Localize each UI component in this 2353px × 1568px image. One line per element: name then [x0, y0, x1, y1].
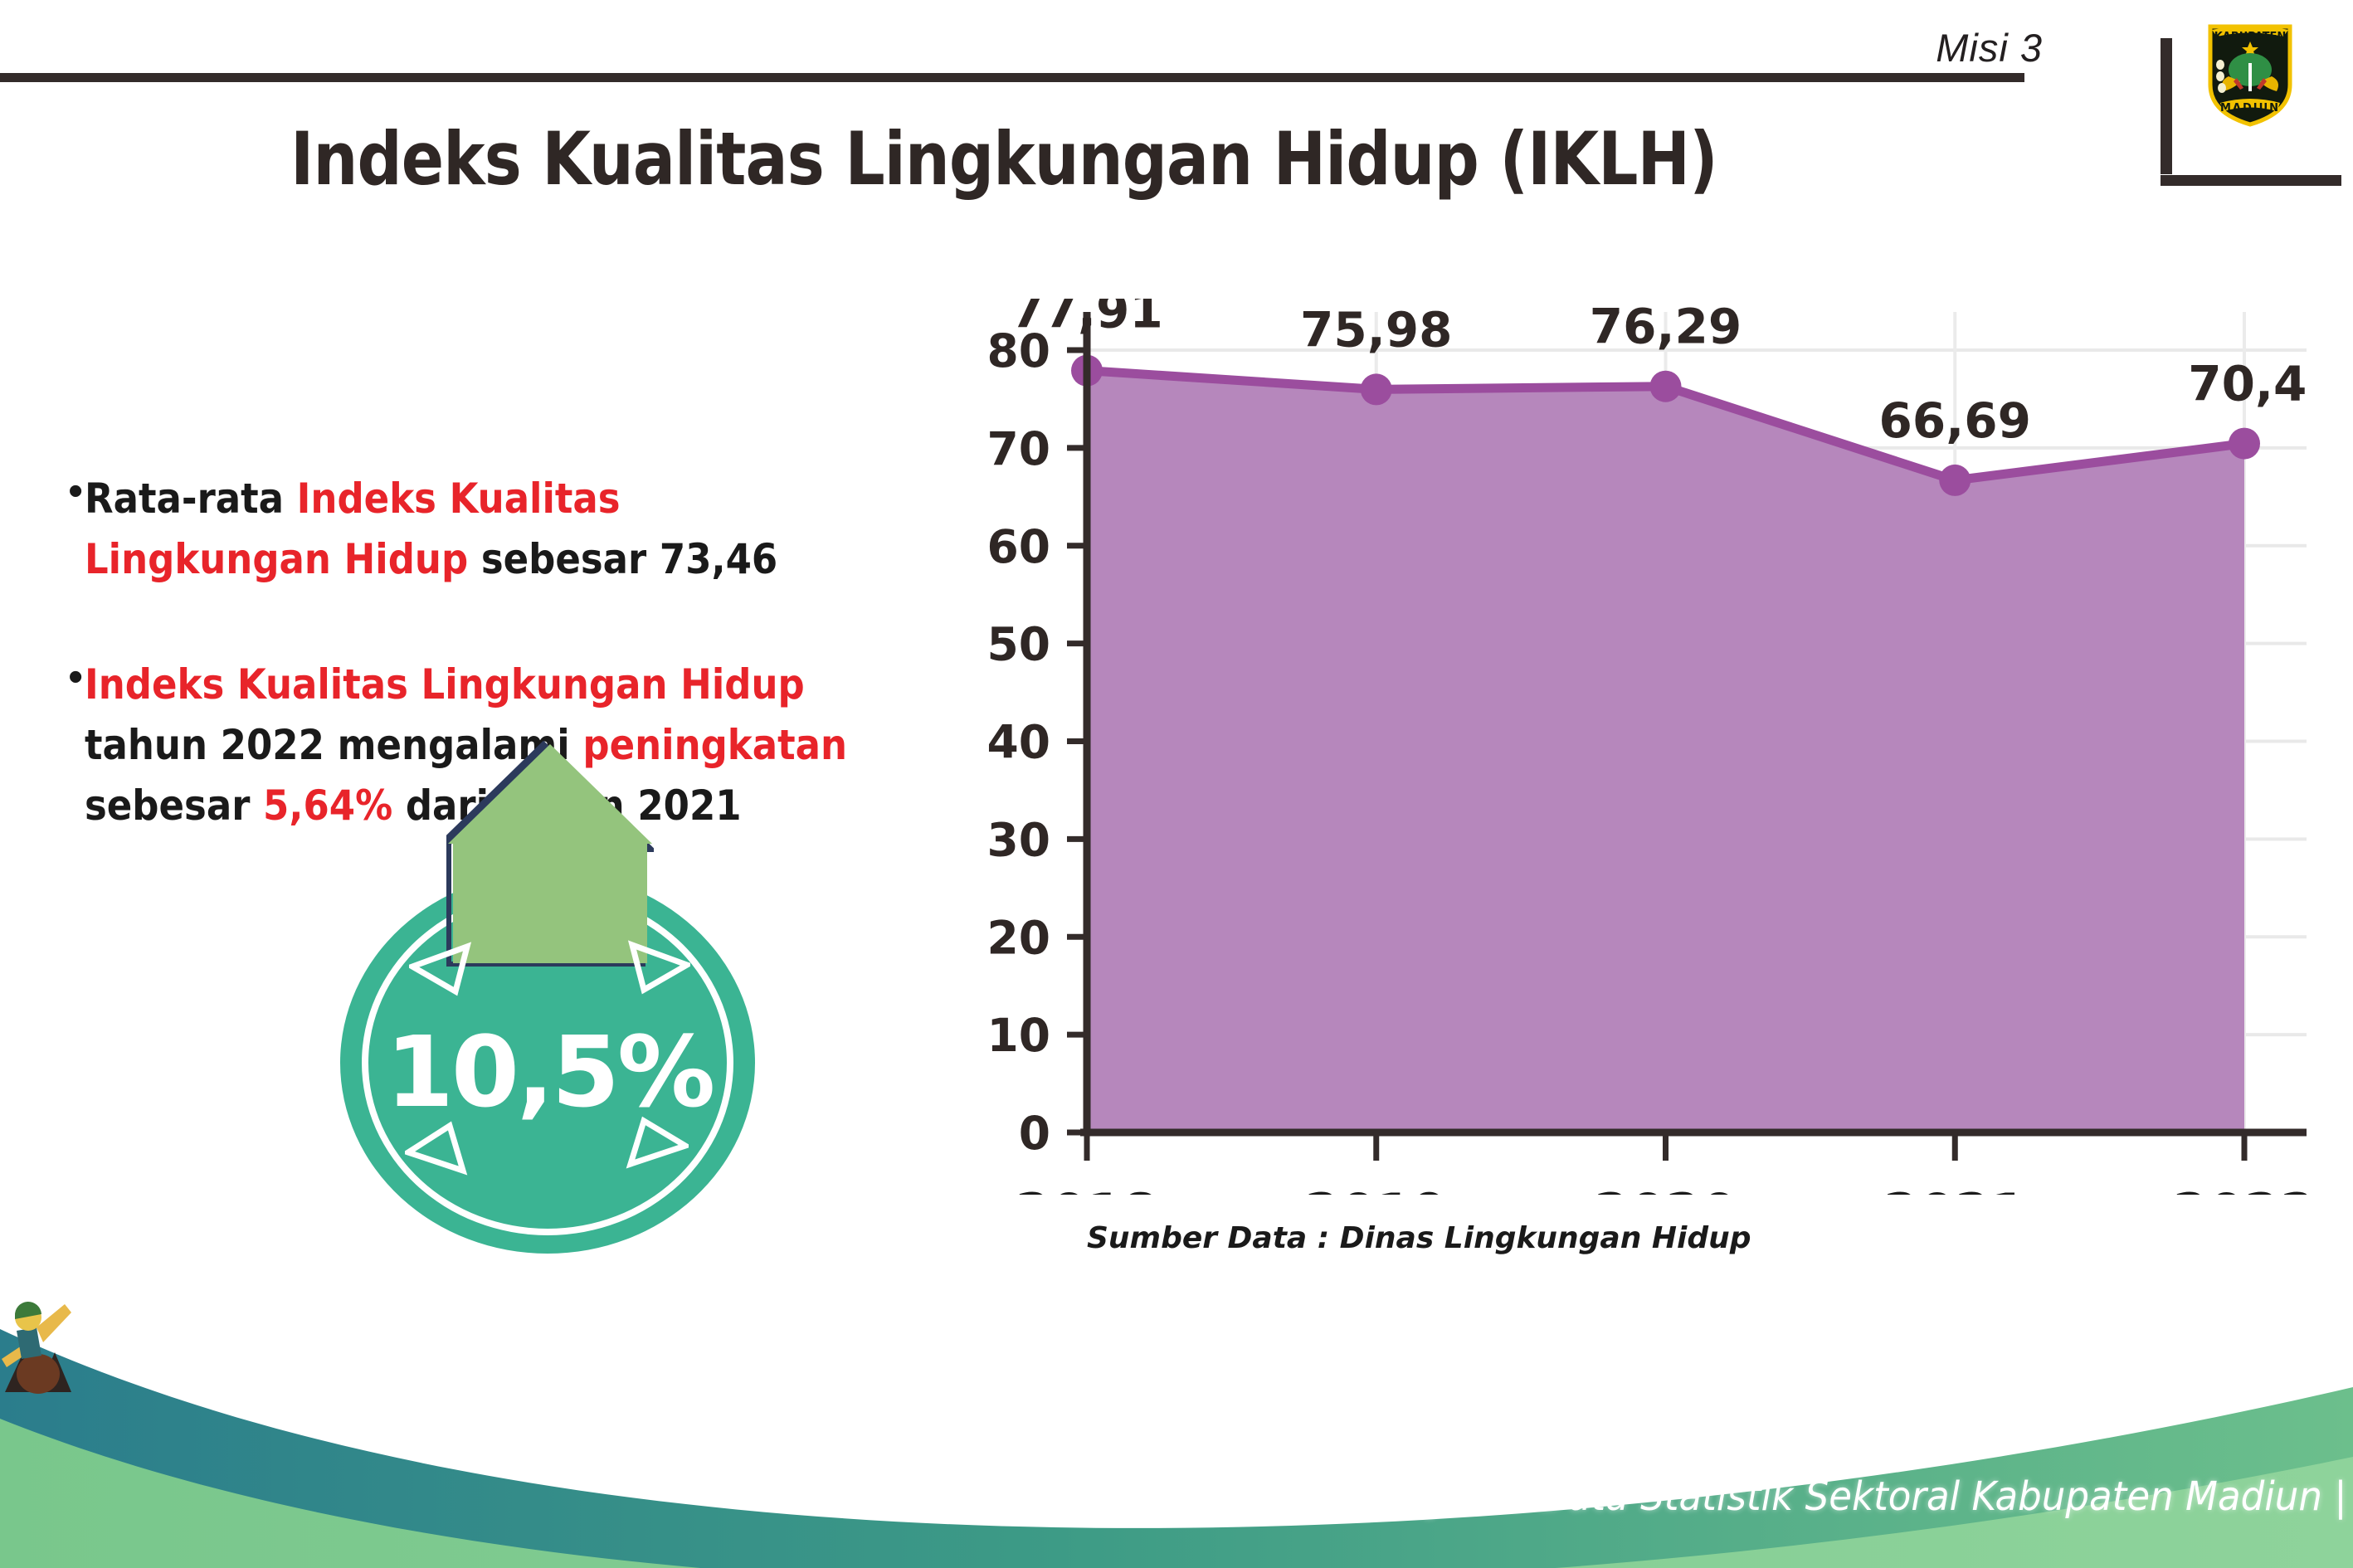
chart-canvas: 01020304050607080 20182019202020212022 7…	[962, 299, 2307, 1195]
svg-text:MADIUN: MADIUN	[2220, 102, 2280, 114]
chart-marker	[1650, 371, 1682, 402]
up-arrow-icon	[446, 741, 654, 967]
badge-tick-top-right-icon	[622, 940, 690, 1000]
chart-source-note: Sumber Data : Dinas Lingkungan Hidup	[1087, 1221, 1751, 1255]
data-value-label: 77,91	[1011, 299, 1162, 339]
bullet-item-0: • Rata-rata Indeks Kualitas Lingkungan H…	[68, 469, 964, 590]
data-value-label: 76,29	[1590, 299, 1742, 355]
chart-x-ticks	[1087, 1132, 2244, 1161]
x-tick-label: 2018	[1016, 1182, 1159, 1195]
y-tick-label: 70	[987, 422, 1050, 475]
footer-caption: Media Infografis Data Statistik Sektoral…	[1226, 1473, 2347, 1520]
bullet-dot-icon: •	[68, 467, 83, 515]
kabupaten-madiun-logo-icon: KABUPATEN MADIUN	[2200, 12, 2300, 128]
y-tick-label: 0	[1019, 1107, 1050, 1160]
chart-marker	[1939, 465, 1971, 496]
chart-y-tick-labels: 01020304050607080	[987, 324, 1050, 1160]
data-value-label: 66,69	[1879, 392, 2031, 449]
misi-label: Misi 3	[1936, 25, 2043, 71]
chart-x-tick-labels: 20182019202020212022	[1016, 1182, 2307, 1195]
footer-banner: Media Infografis Data Statistik Sektoral…	[0, 1294, 2353, 1568]
y-tick-label: 10	[987, 1009, 1050, 1062]
badge-percent-value: 10,5%	[330, 1015, 768, 1129]
iklh-area-chart: 01020304050607080 20182019202020212022 7…	[962, 299, 2307, 1195]
chart-marker	[1361, 373, 1392, 405]
data-value-label: 75,98	[1300, 301, 1452, 358]
text-run: sebesar 73,46	[468, 535, 777, 583]
text-run: sebesar	[85, 782, 263, 830]
page-title: Indeks Kualitas Lingkungan Hidup (IKLH)	[140, 116, 1867, 202]
y-tick-label: 20	[987, 911, 1050, 964]
y-tick-label: 60	[987, 520, 1050, 573]
chart-marker	[2229, 428, 2260, 460]
svg-text:KABUPATEN: KABUPATEN	[2214, 31, 2287, 43]
footer-waves	[0, 1294, 2353, 1568]
badge-tick-top-left-icon	[409, 942, 477, 1001]
bullet-text-0: Rata-rata Indeks Kualitas Lingkungan Hid…	[85, 469, 876, 590]
y-tick-label: 30	[987, 813, 1050, 866]
x-tick-label: 2022	[2173, 1182, 2307, 1195]
media-infografis-figure-icon	[0, 1294, 76, 1395]
x-tick-label: 2019	[1304, 1182, 1448, 1195]
data-value-label: 70,45	[2188, 356, 2307, 412]
y-tick-label: 40	[987, 716, 1050, 769]
highlight-run: Indeks Kualitas Lingkungan Hidup	[85, 660, 805, 709]
header-divider	[0, 73, 2024, 82]
increase-badge: 10,5%	[330, 741, 768, 1264]
bullet-dot-icon: •	[68, 653, 83, 701]
x-tick-label: 2021	[1883, 1182, 2027, 1195]
y-tick-label: 50	[987, 618, 1050, 671]
chart-area-fill	[1087, 371, 2244, 1132]
text-run: Rata-rata	[85, 475, 297, 523]
x-tick-label: 2020	[1594, 1182, 1737, 1195]
